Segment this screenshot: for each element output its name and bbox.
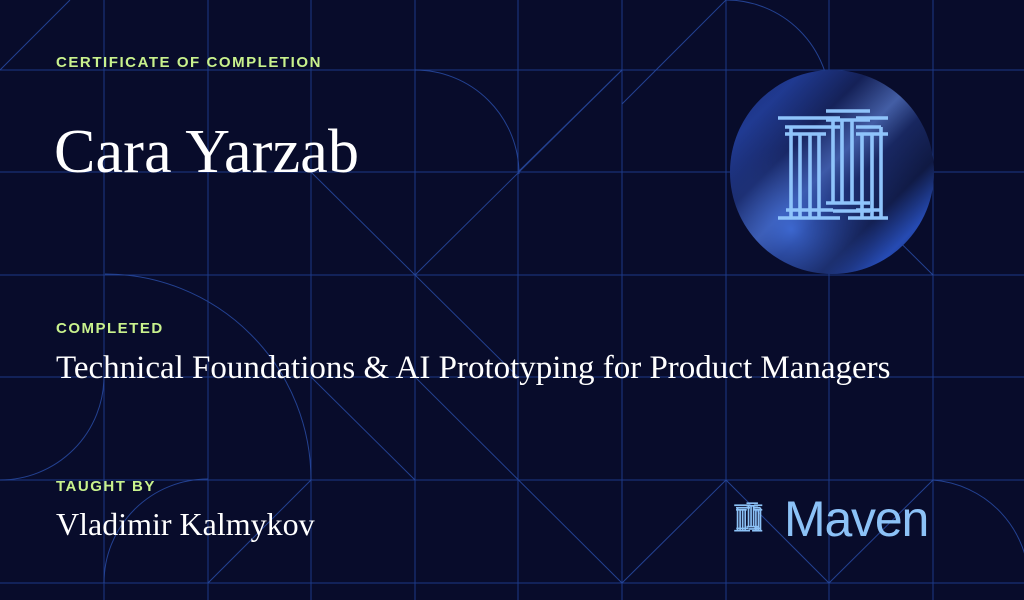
completed-label: COMPLETED xyxy=(56,320,926,337)
recipient-name: Cara Yarzab xyxy=(54,120,359,185)
certificate-eyebrow: CERTIFICATE OF COMPLETION xyxy=(56,54,322,71)
certificate-card: CERTIFICATE OF COMPLETION Cara Yarzab CO… xyxy=(0,0,1024,600)
maven-logo: Maven xyxy=(722,493,928,545)
taught-by-block: TAUGHT BY Vladimir Kalmykov xyxy=(56,478,315,543)
certificate-content: CERTIFICATE OF COMPLETION Cara Yarzab CO… xyxy=(0,0,1024,600)
maven-wordmark: Maven xyxy=(784,494,928,544)
completed-block: COMPLETED Technical Foundations & AI Pro… xyxy=(56,320,926,391)
taught-by-label: TAUGHT BY xyxy=(56,478,315,495)
course-title: Technical Foundations & AI Prototyping f… xyxy=(56,347,926,391)
maven-pillars-icon xyxy=(722,493,774,545)
instructor-name: Vladimir Kalmykov xyxy=(56,505,315,543)
